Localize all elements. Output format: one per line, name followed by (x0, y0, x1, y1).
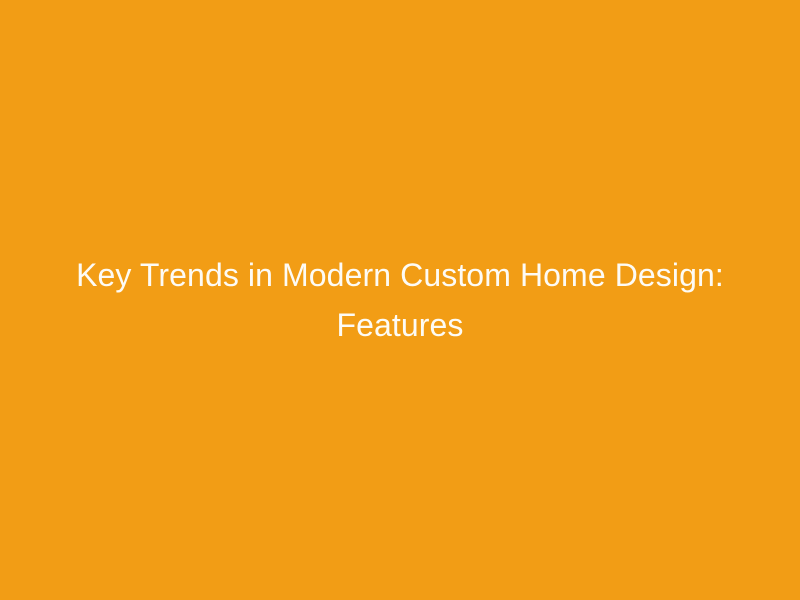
banner-card: Key Trends in Modern Custom Home Design:… (0, 0, 800, 600)
banner-headline: Key Trends in Modern Custom Home Design:… (60, 250, 740, 350)
